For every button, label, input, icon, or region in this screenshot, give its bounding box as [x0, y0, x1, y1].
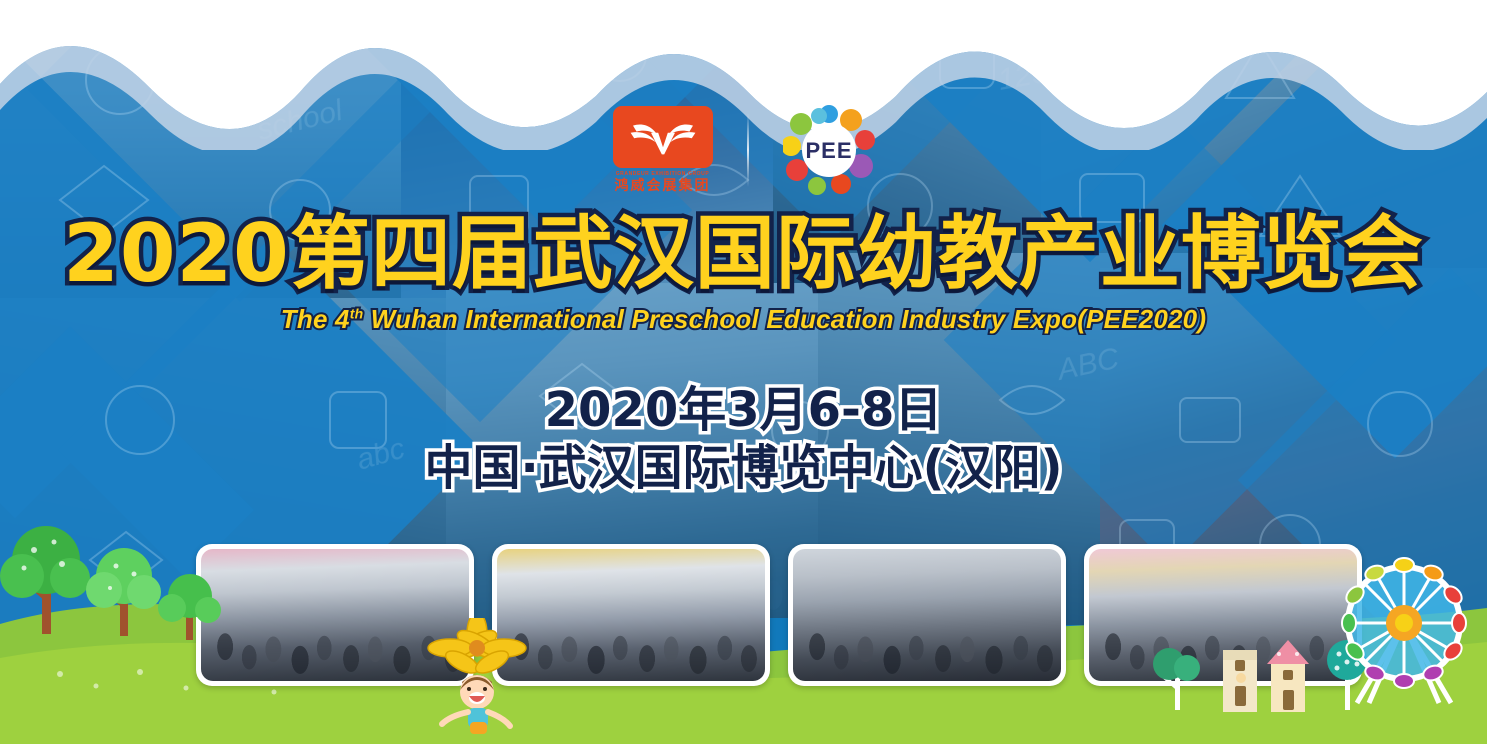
logo-divider [747, 113, 749, 187]
photo-card [788, 544, 1066, 686]
pink-roof-house [1267, 640, 1309, 712]
event-venue: 中国·武汉国际博览中心(汉阳) [0, 442, 1487, 496]
pee-logo: PEE [783, 104, 875, 196]
hongwei-w-mark-icon [613, 106, 713, 168]
cartoon-child-with-flower [402, 618, 552, 738]
title-en-rest: Wuhan International Preschool Education … [371, 304, 1206, 334]
hongwei-exhibition-group-logo: GRANDEUR EXHIBITION GROUP 鸿威会展集团 [613, 106, 713, 193]
ferris-wheel [1329, 553, 1479, 718]
page-title-chinese: 2020第四届武汉国际幼教产业博览会 [0, 214, 1487, 294]
hongwei-logo-chinese: 鸿威会展集团 [613, 178, 713, 193]
page-title-english: The 4th Wuhan International Preschool Ed… [0, 304, 1487, 335]
event-date: 2020年3月6-8日 [0, 384, 1487, 438]
svg-text:PEE: PEE [805, 138, 852, 163]
title-en-ordinal: th [350, 305, 364, 321]
flower-icon [428, 618, 526, 678]
tree-left [1153, 648, 1200, 710]
expo-promo-banner: school school 123 ABC abc [0, 0, 1487, 744]
event-info-block: 2020年3月6-8日 中国·武汉国际博览中心(汉阳) [0, 384, 1487, 496]
title-en-prefix: The 4 [281, 304, 350, 334]
logo-group: GRANDEUR EXHIBITION GROUP 鸿威会展集团 [613, 104, 875, 196]
headline-block: 2020第四届武汉国际幼教产业博览会 The 4th Wuhan Interna… [0, 214, 1487, 335]
child-figure [442, 675, 510, 734]
expo-hall-b2-zone-photo [793, 549, 1061, 681]
tall-house [1223, 650, 1257, 712]
cartoon-trees [0, 502, 240, 652]
